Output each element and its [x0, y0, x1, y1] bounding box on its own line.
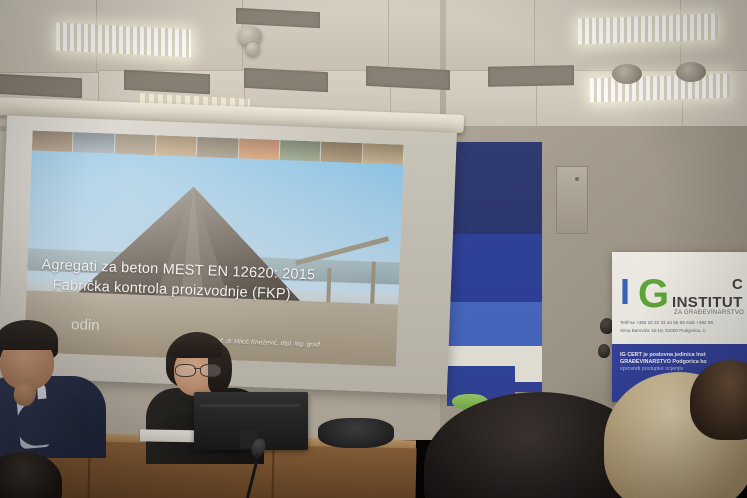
- banner-contact-line-1: Tel/Fax +382 20 22 33 44 55 66 mob +382 …: [620, 320, 713, 325]
- ceiling-speaker-stem: [246, 42, 260, 56]
- panelist-right-glasses: [174, 364, 222, 376]
- logo-subtitle-text: ZA GRAĐEVINARSTVO: [674, 310, 744, 316]
- ceiling-vent: [488, 65, 574, 87]
- logo-letter-c: C: [732, 276, 743, 293]
- ceiling-light-fixture: [590, 74, 730, 103]
- logo-letter-i: I: [620, 274, 630, 310]
- monitor-seam: [200, 404, 300, 407]
- panelist-left-hair-front: [0, 330, 56, 350]
- panelist-right-fringe: [170, 340, 222, 358]
- wall-mounted-box: [556, 166, 588, 234]
- ceiling-grille: [676, 62, 706, 82]
- banner-body-line-1: IG CERT je poslovna jedinica Inst: [620, 352, 747, 359]
- conveyor-leg: [326, 268, 331, 304]
- wall-speaker-lower: [598, 344, 610, 358]
- logo-institut-text: INSTITUT: [672, 294, 743, 311]
- banner-contact-line-2: Sima Barovića 16-18, 81000 Podgorica, C: [620, 328, 706, 333]
- conference-room-photo: odin Agregati za beton MEST EN 12620: 20…: [0, 0, 747, 498]
- panelist-left: [0, 322, 120, 446]
- monitor-base: [318, 418, 394, 448]
- conveyor-leg: [370, 262, 376, 306]
- ceiling-vent: [0, 74, 82, 99]
- logo-letter-g: G: [638, 274, 669, 314]
- ceiling-light-fixture: [578, 14, 718, 45]
- ceiling-grille: [612, 64, 642, 84]
- striped-wall-panel: [447, 142, 542, 392]
